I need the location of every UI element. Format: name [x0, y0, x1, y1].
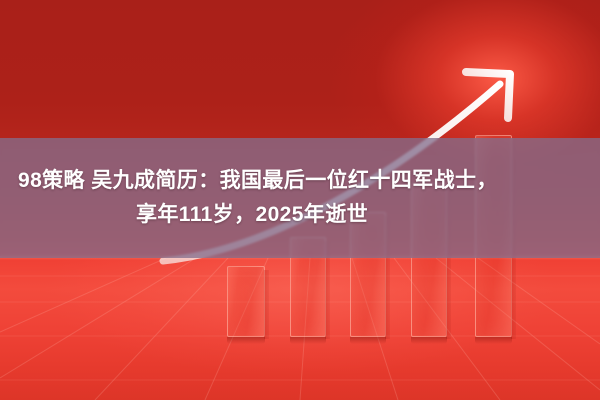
caption-text-block: 98策略 吴九成简历：我国最后一位红十四军战士， 享年111岁，2025年逝世: [0, 138, 600, 258]
chart-bar-shadow: [227, 337, 265, 344]
caption-line-2: 享年111岁，2025年逝世: [136, 201, 464, 229]
banner-image: 98策略 吴九成简历：我国最后一位红十四军战士， 享年111岁，2025年逝世: [0, 0, 600, 400]
chart-bar: [227, 266, 265, 337]
caption-line-1: 98策略 吴九成简历：我国最后一位红十四军战士，: [10, 167, 498, 195]
chart-bar-shadow: [411, 337, 447, 344]
chart-bar-shadow: [475, 337, 512, 344]
chart-bar-shadow: [290, 337, 326, 344]
chart-bar-shadow: [350, 337, 386, 344]
